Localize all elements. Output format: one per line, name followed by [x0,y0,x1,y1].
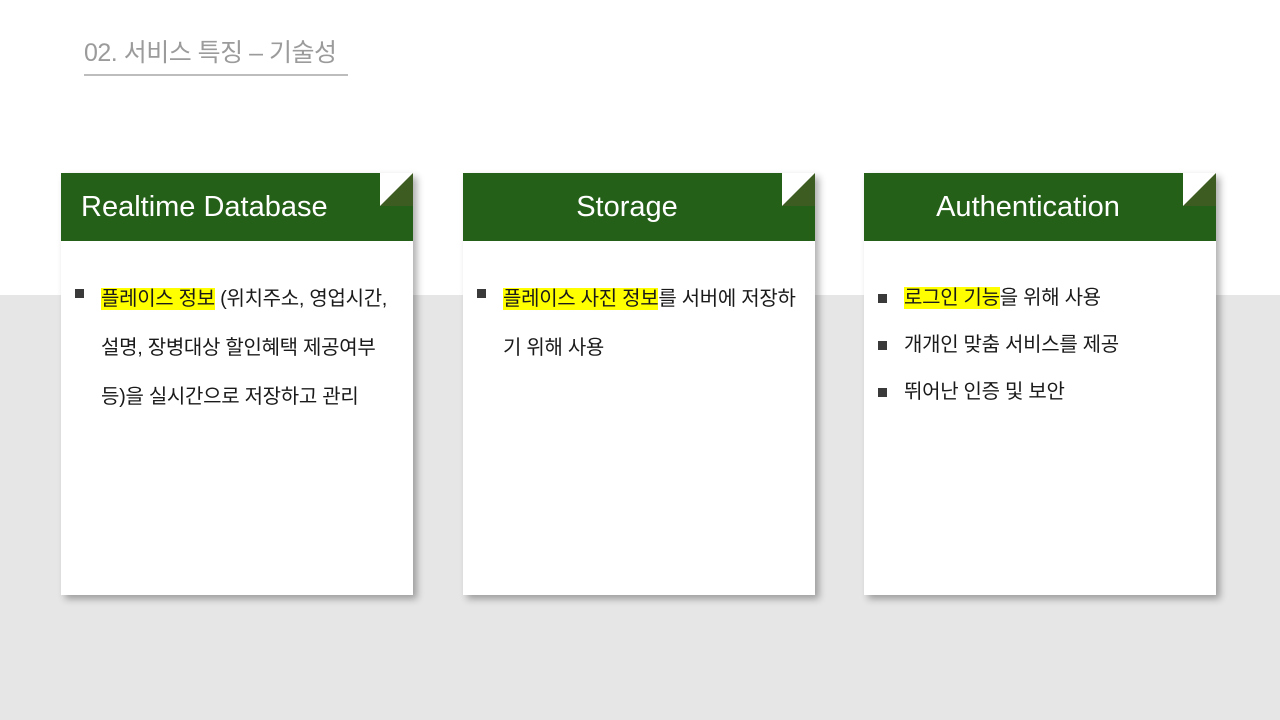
bullet-text: 플레이스 정보 (위치주소, 영업시간, 설명, 장병대상 할인혜택 제공여부 … [101,275,399,422]
folded-corner-icon [1183,173,1216,206]
slide-canvas: 02. 서비스 특징 – 기술성 Realtime Database 플레이스 … [0,0,1280,720]
highlighted-phrase: 로그인 기능 [904,287,1000,309]
bullet-square-icon [878,388,887,397]
card-realtime-database[interactable]: Realtime Database 플레이스 정보 (위치주소, 영업시간, 설… [61,173,413,595]
highlighted-phrase: 플레이스 정보 [101,288,215,310]
card-header-title: Storage [576,190,678,224]
bullet-square-icon [878,341,887,350]
card-header-title: Realtime Database [81,190,328,224]
bullet-rest: 을 위해 사용 [1000,287,1101,309]
card-header: Storage [463,173,815,241]
bullet-text: 개개인 맞춤 서비스를 제공 [904,322,1202,369]
bullet-text: 로그인 기능을 위해 사용 [904,275,1202,322]
card-body: 플레이스 정보 (위치주소, 영업시간, 설명, 장병대상 할인혜택 제공여부 … [61,241,413,595]
list-item: 뛰어난 인증 및 보안 [878,369,1202,416]
bullet-square-icon [477,289,486,298]
slide-title-block: 02. 서비스 특징 – 기술성 [84,36,684,76]
page-title: 02. 서비스 특징 – 기술성 [84,36,684,70]
list-item: 플레이스 정보 (위치주소, 영업시간, 설명, 장병대상 할인혜택 제공여부 … [75,275,399,422]
card-header-title: Authentication [936,190,1120,224]
list-item: 로그인 기능을 위해 사용 [878,275,1202,322]
card-storage[interactable]: Storage 플레이스 사진 정보를 서버에 저장하기 위해 사용 [463,173,815,595]
bullet-text: 뛰어난 인증 및 보안 [904,369,1202,416]
card-authentication[interactable]: Authentication 로그인 기능을 위해 사용 개개인 맞춤 서비스를… [864,173,1216,595]
title-underline [84,74,348,76]
list-item: 플레이스 사진 정보를 서버에 저장하기 위해 사용 [477,275,801,373]
card-header: Realtime Database [61,173,413,241]
bullet-square-icon [878,294,887,303]
folded-corner-icon [782,173,815,206]
card-body: 플레이스 사진 정보를 서버에 저장하기 위해 사용 [463,241,815,595]
bullet-square-icon [75,289,84,298]
card-body: 로그인 기능을 위해 사용 개개인 맞춤 서비스를 제공 뛰어난 인증 및 보안 [864,241,1216,595]
card-header: Authentication [864,173,1216,241]
list-item: 개개인 맞춤 서비스를 제공 [878,322,1202,369]
bullet-text: 플레이스 사진 정보를 서버에 저장하기 위해 사용 [503,275,801,373]
folded-corner-icon [380,173,413,206]
highlighted-phrase: 플레이스 사진 정보 [503,288,658,310]
